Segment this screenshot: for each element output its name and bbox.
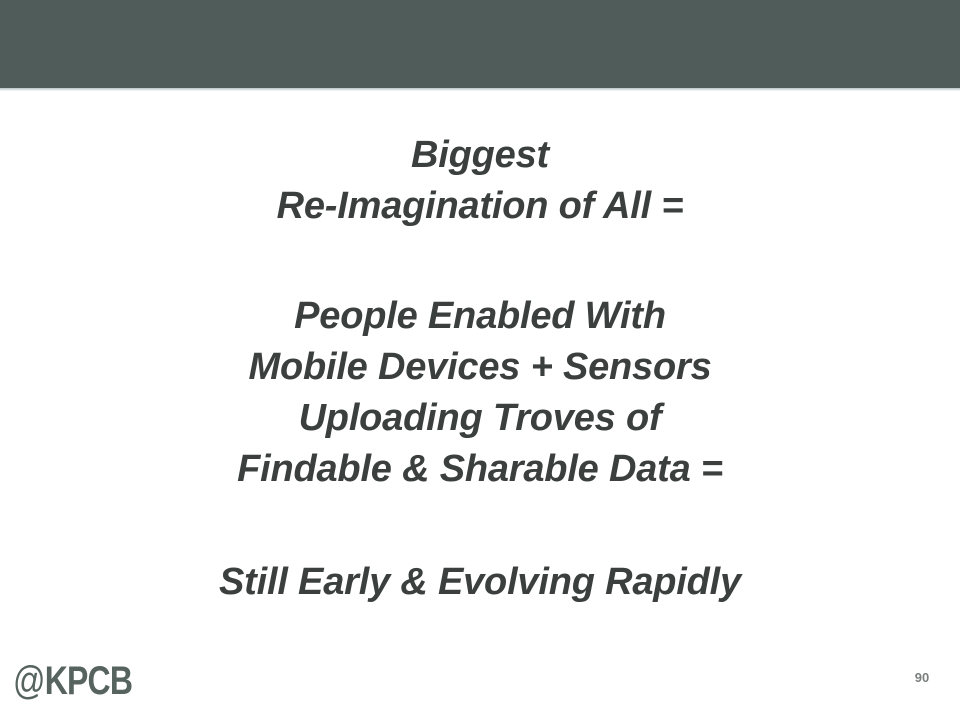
headline-line-2: Re-Imagination of All = xyxy=(0,181,960,232)
page-number: 90 xyxy=(905,670,939,686)
at-symbol-icon: @ xyxy=(13,659,45,703)
slide: Biggest Re-Imagination of All = People E… xyxy=(0,0,960,720)
header-band xyxy=(0,0,960,88)
detail-line-1: People Enabled With xyxy=(0,291,960,342)
conclusion-block: Still Early & Evolving Rapidly xyxy=(0,557,960,608)
detail-line-4: Findable & Sharable Data = xyxy=(0,444,960,495)
detail-line-2: Mobile Devices + Sensors xyxy=(0,342,960,393)
headline-line-1: Biggest xyxy=(0,130,960,181)
headline-block: Biggest Re-Imagination of All = xyxy=(0,130,960,232)
kpcb-logo-text: KPCB xyxy=(45,659,132,703)
detail-line-3: Uploading Troves of xyxy=(0,393,960,444)
conclusion-line-1: Still Early & Evolving Rapidly xyxy=(0,557,960,608)
kpcb-logo: @KPCB xyxy=(13,659,132,703)
detail-block: People Enabled With Mobile Devices + Sen… xyxy=(0,291,960,495)
slide-body: Biggest Re-Imagination of All = People E… xyxy=(0,88,960,633)
